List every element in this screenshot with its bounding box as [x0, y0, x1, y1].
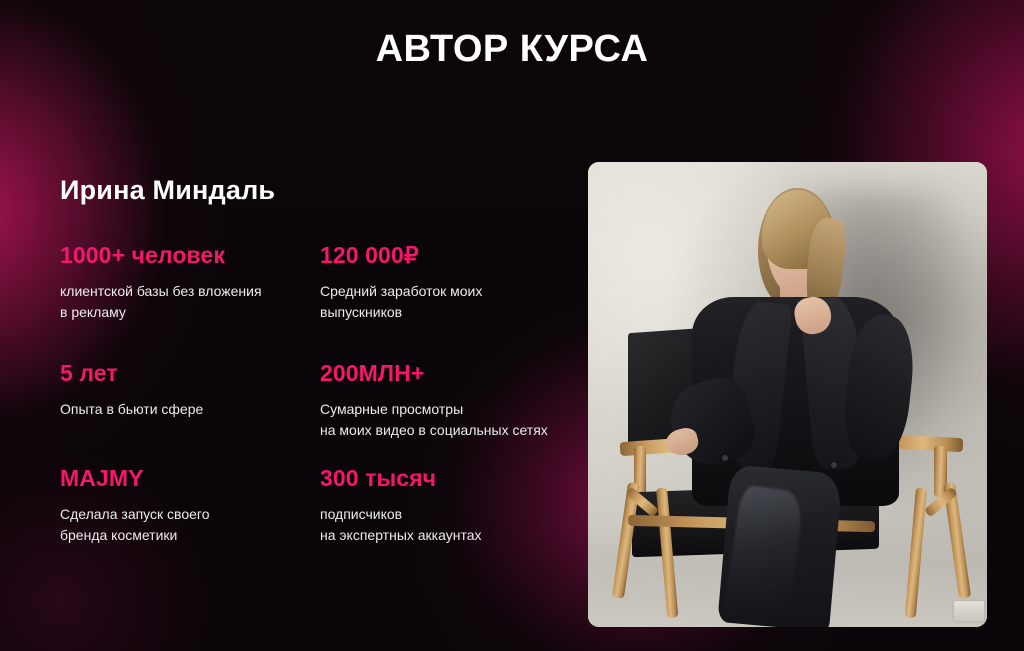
- stat-value: 120 000₽: [320, 243, 580, 268]
- stats-row: 5 лет Опыта в бьюти сфере 200МЛН+ Сумарн…: [60, 361, 580, 466]
- stat-description-line: Сумарные просмотры: [320, 399, 580, 419]
- stat-item: 300 тысяч подписчиков на экспертных акка…: [320, 466, 580, 566]
- stat-item: 120 000₽ Средний заработок моих выпускни…: [320, 243, 580, 361]
- page-title: АВТОР КУРСА: [0, 28, 1024, 71]
- stat-description: клиентской базы без вложения в рекламу: [60, 281, 320, 322]
- stats-row: MAJMY Сделала запуск своего бренда косме…: [60, 466, 580, 566]
- author-figure: [588, 162, 987, 627]
- stat-item: 5 лет Опыта в бьюти сфере: [60, 361, 320, 466]
- stat-description-line: на моих видео в социальных сетях: [320, 420, 580, 440]
- stat-value: 5 лет: [60, 361, 320, 386]
- stat-description-line: Сделала запуск своего: [60, 504, 320, 524]
- stats-row: 1000+ человек клиентской базы без вложен…: [60, 243, 580, 361]
- stat-value: 300 тысяч: [320, 466, 580, 491]
- stat-value: 1000+ человек: [60, 243, 320, 268]
- stat-description-line: на экспертных аккаунтах: [320, 525, 580, 545]
- stat-item: 1000+ человек клиентской базы без вложен…: [60, 243, 320, 361]
- author-photo: [588, 162, 987, 627]
- jacket-button: [722, 455, 728, 461]
- stat-description: Сумарные просмотры на моих видео в социа…: [320, 399, 580, 440]
- stat-description-line: выпускников: [320, 302, 580, 322]
- stat-description-line: клиентской базы без вложения: [60, 281, 320, 301]
- stat-item: MAJMY Сделала запуск своего бренда косме…: [60, 466, 320, 566]
- stat-description-line: в рекламу: [60, 302, 320, 322]
- stat-value: MAJMY: [60, 466, 320, 491]
- stat-description: подписчиков на экспертных аккаунтах: [320, 504, 580, 545]
- wall-outlet: [954, 601, 984, 621]
- stats-grid: 1000+ человек клиентской базы без вложен…: [60, 243, 580, 566]
- stat-description: Опыта в бьюти сфере: [60, 399, 320, 419]
- stat-description-line: подписчиков: [320, 504, 580, 524]
- stat-description: Средний заработок моих выпускников: [320, 281, 580, 322]
- author-name: Ирина Миндаль: [60, 175, 275, 206]
- stat-description-line: Опыта в бьюти сфере: [60, 399, 320, 419]
- stat-item: 200МЛН+ Сумарные просмотры на моих видео…: [320, 361, 580, 466]
- stat-description-line: Средний заработок моих: [320, 281, 580, 301]
- stat-description: Сделала запуск своего бренда косметики: [60, 504, 320, 545]
- stat-description-line: бренда косметики: [60, 525, 320, 545]
- stat-value: 200МЛН+: [320, 361, 580, 386]
